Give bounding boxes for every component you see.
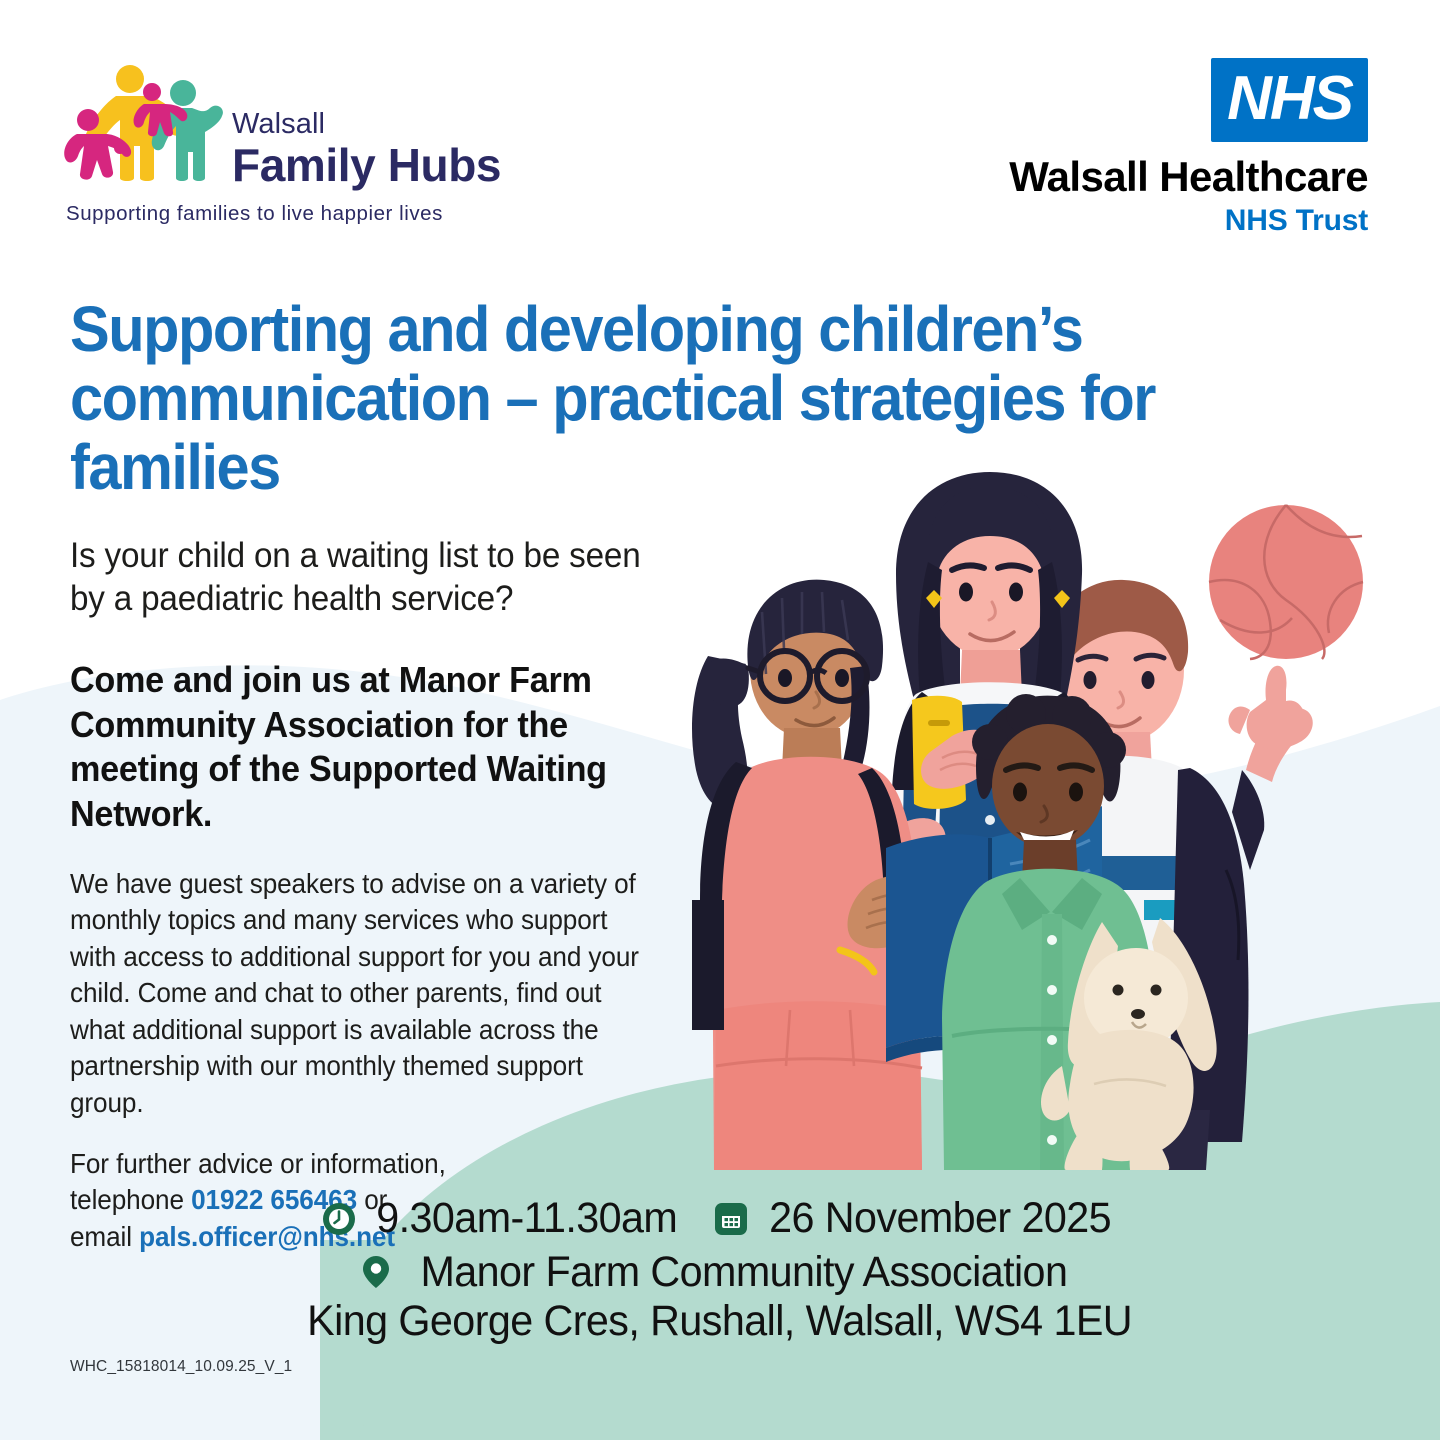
event-time-text: 9.30am-11.30am (376, 1196, 677, 1242)
event-address-row: King George Cres, Rushall, Walsall, WS4 … (0, 1299, 1440, 1345)
calendar-icon (714, 1202, 748, 1236)
body-paragraph: We have guest speakers to advise on a va… (70, 866, 650, 1122)
event-date-text: 26 November 2025 (769, 1196, 1111, 1242)
lede-question: Is your child on a waiting list to be se… (70, 535, 678, 620)
event-time-item: 9.30am-11.30am (322, 1196, 684, 1242)
event-venue-item: Manor Farm Community Association (359, 1250, 1081, 1296)
page-title: Supporting and developing children’s com… (70, 295, 1242, 502)
event-venue-text: Manor Farm Community Association (421, 1250, 1068, 1296)
call-to-action-text: Come and join us at Manor Farm Community… (70, 658, 678, 837)
document-reference-code: WHC_15818014_10.09.25_V_1 (70, 1358, 292, 1376)
clock-icon (322, 1202, 356, 1236)
event-date-item: 26 November 2025 (714, 1196, 1118, 1242)
event-time-date-row: 9.30am-11.30am 26 November 2025 (0, 1196, 1440, 1242)
event-address-text: King George Cres, Rushall, Walsall, WS4 … (308, 1299, 1133, 1345)
event-venue-row: Manor Farm Community Association (0, 1250, 1440, 1296)
location-pin-icon (359, 1255, 393, 1289)
poster-canvas: Walsall Family Hubs Supporting families … (0, 0, 1440, 1440)
event-details: 9.30am-11.30am 26 November 2025 (0, 1196, 1440, 1345)
contact-intro: For further advice or information, (70, 1148, 446, 1179)
